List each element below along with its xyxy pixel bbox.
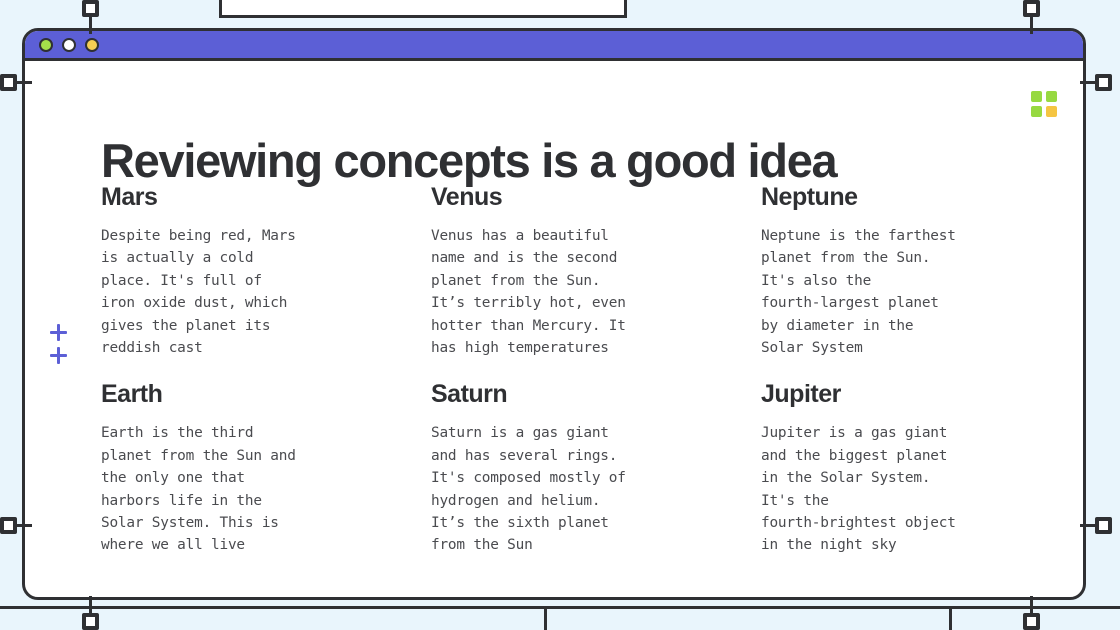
page-title: Reviewing concepts is a good idea [101, 136, 981, 185]
planet-cell-neptune: Neptune Neptune is the farthest planet f… [761, 183, 1061, 359]
planet-cell-mars: Mars Despite being red, Mars is actually… [101, 183, 431, 359]
planet-title: Neptune [761, 183, 1061, 212]
slide-canvas[interactable]: Reviewing concepts is a good idea Mars D… [22, 28, 1086, 600]
plus-icon-stack [50, 324, 67, 364]
selection-handle-top-left[interactable] [82, 0, 99, 17]
plus-icon [50, 347, 67, 364]
selection-tether-bottom-right [1030, 596, 1033, 614]
grid-2x2-icon [1031, 91, 1057, 117]
planet-body: Saturn is a gas giant and has several ri… [431, 422, 761, 556]
planet-title: Venus [431, 183, 761, 212]
planet-grid: Mars Despite being red, Mars is actually… [101, 183, 1061, 557]
plus-icon [50, 324, 67, 341]
selection-handle-middle-right-top[interactable] [1095, 74, 1112, 91]
selection-tether-bottom-left [89, 596, 92, 614]
planet-cell-jupiter: Jupiter Jupiter is a gas giant and the b… [761, 380, 1061, 556]
planet-cell-saturn: Saturn Saturn is a gas giant and has sev… [431, 380, 761, 556]
selection-tether-left-top [16, 81, 32, 84]
planet-body: Despite being red, Mars is actually a co… [101, 225, 431, 359]
window-dot-green[interactable] [39, 38, 53, 52]
selection-tether-left-bottom [16, 524, 32, 527]
selection-handle-middle-right-bottom[interactable] [1095, 517, 1112, 534]
canvas-guide-line-bottom-left [544, 608, 547, 630]
planet-body: Venus has a beautiful name and is the se… [431, 225, 761, 359]
adjacent-slide-top [219, 0, 627, 18]
grid-square-1 [1031, 91, 1042, 102]
planet-title: Mars [101, 183, 431, 212]
planet-cell-earth: Earth Earth is the third planet from the… [101, 380, 431, 556]
planet-title: Earth [101, 380, 431, 409]
selection-tether-right-bottom [1080, 524, 1096, 527]
planet-title: Jupiter [761, 380, 1061, 409]
canvas-guide-line-bottom [0, 606, 1120, 609]
canvas-guide-line-left [219, 0, 222, 16]
planet-cell-venus: Venus Venus has a beautiful name and is … [431, 183, 761, 359]
slide-body: Reviewing concepts is a good idea Mars D… [25, 61, 1083, 600]
selection-handle-bottom-left[interactable] [82, 613, 99, 630]
selection-handle-middle-left-bottom[interactable] [0, 517, 17, 534]
planet-body: Jupiter is a gas giant and the biggest p… [761, 422, 1061, 556]
canvas-guide-line-bottom-right [949, 608, 952, 630]
planet-title: Saturn [431, 380, 761, 409]
selection-handle-bottom-right[interactable] [1023, 613, 1040, 630]
selection-handle-top-right[interactable] [1023, 0, 1040, 17]
slide-titlebar [25, 31, 1083, 61]
arrow-right-icon [493, 599, 638, 600]
selection-handle-middle-left-top[interactable] [0, 74, 17, 91]
grid-square-3 [1031, 106, 1042, 117]
planet-body: Neptune is the farthest planet from the … [761, 225, 1061, 359]
window-dot-yellow[interactable] [85, 38, 99, 52]
selection-tether-top-right [1030, 16, 1033, 34]
selection-tether-right-top [1080, 81, 1096, 84]
selection-tether-top-left [89, 16, 92, 34]
grid-square-4 [1046, 106, 1057, 117]
window-dot-white[interactable] [62, 38, 76, 52]
planet-body: Earth is the third planet from the Sun a… [101, 422, 431, 556]
grid-square-2 [1046, 91, 1057, 102]
canvas-guide-line-right [624, 0, 627, 16]
